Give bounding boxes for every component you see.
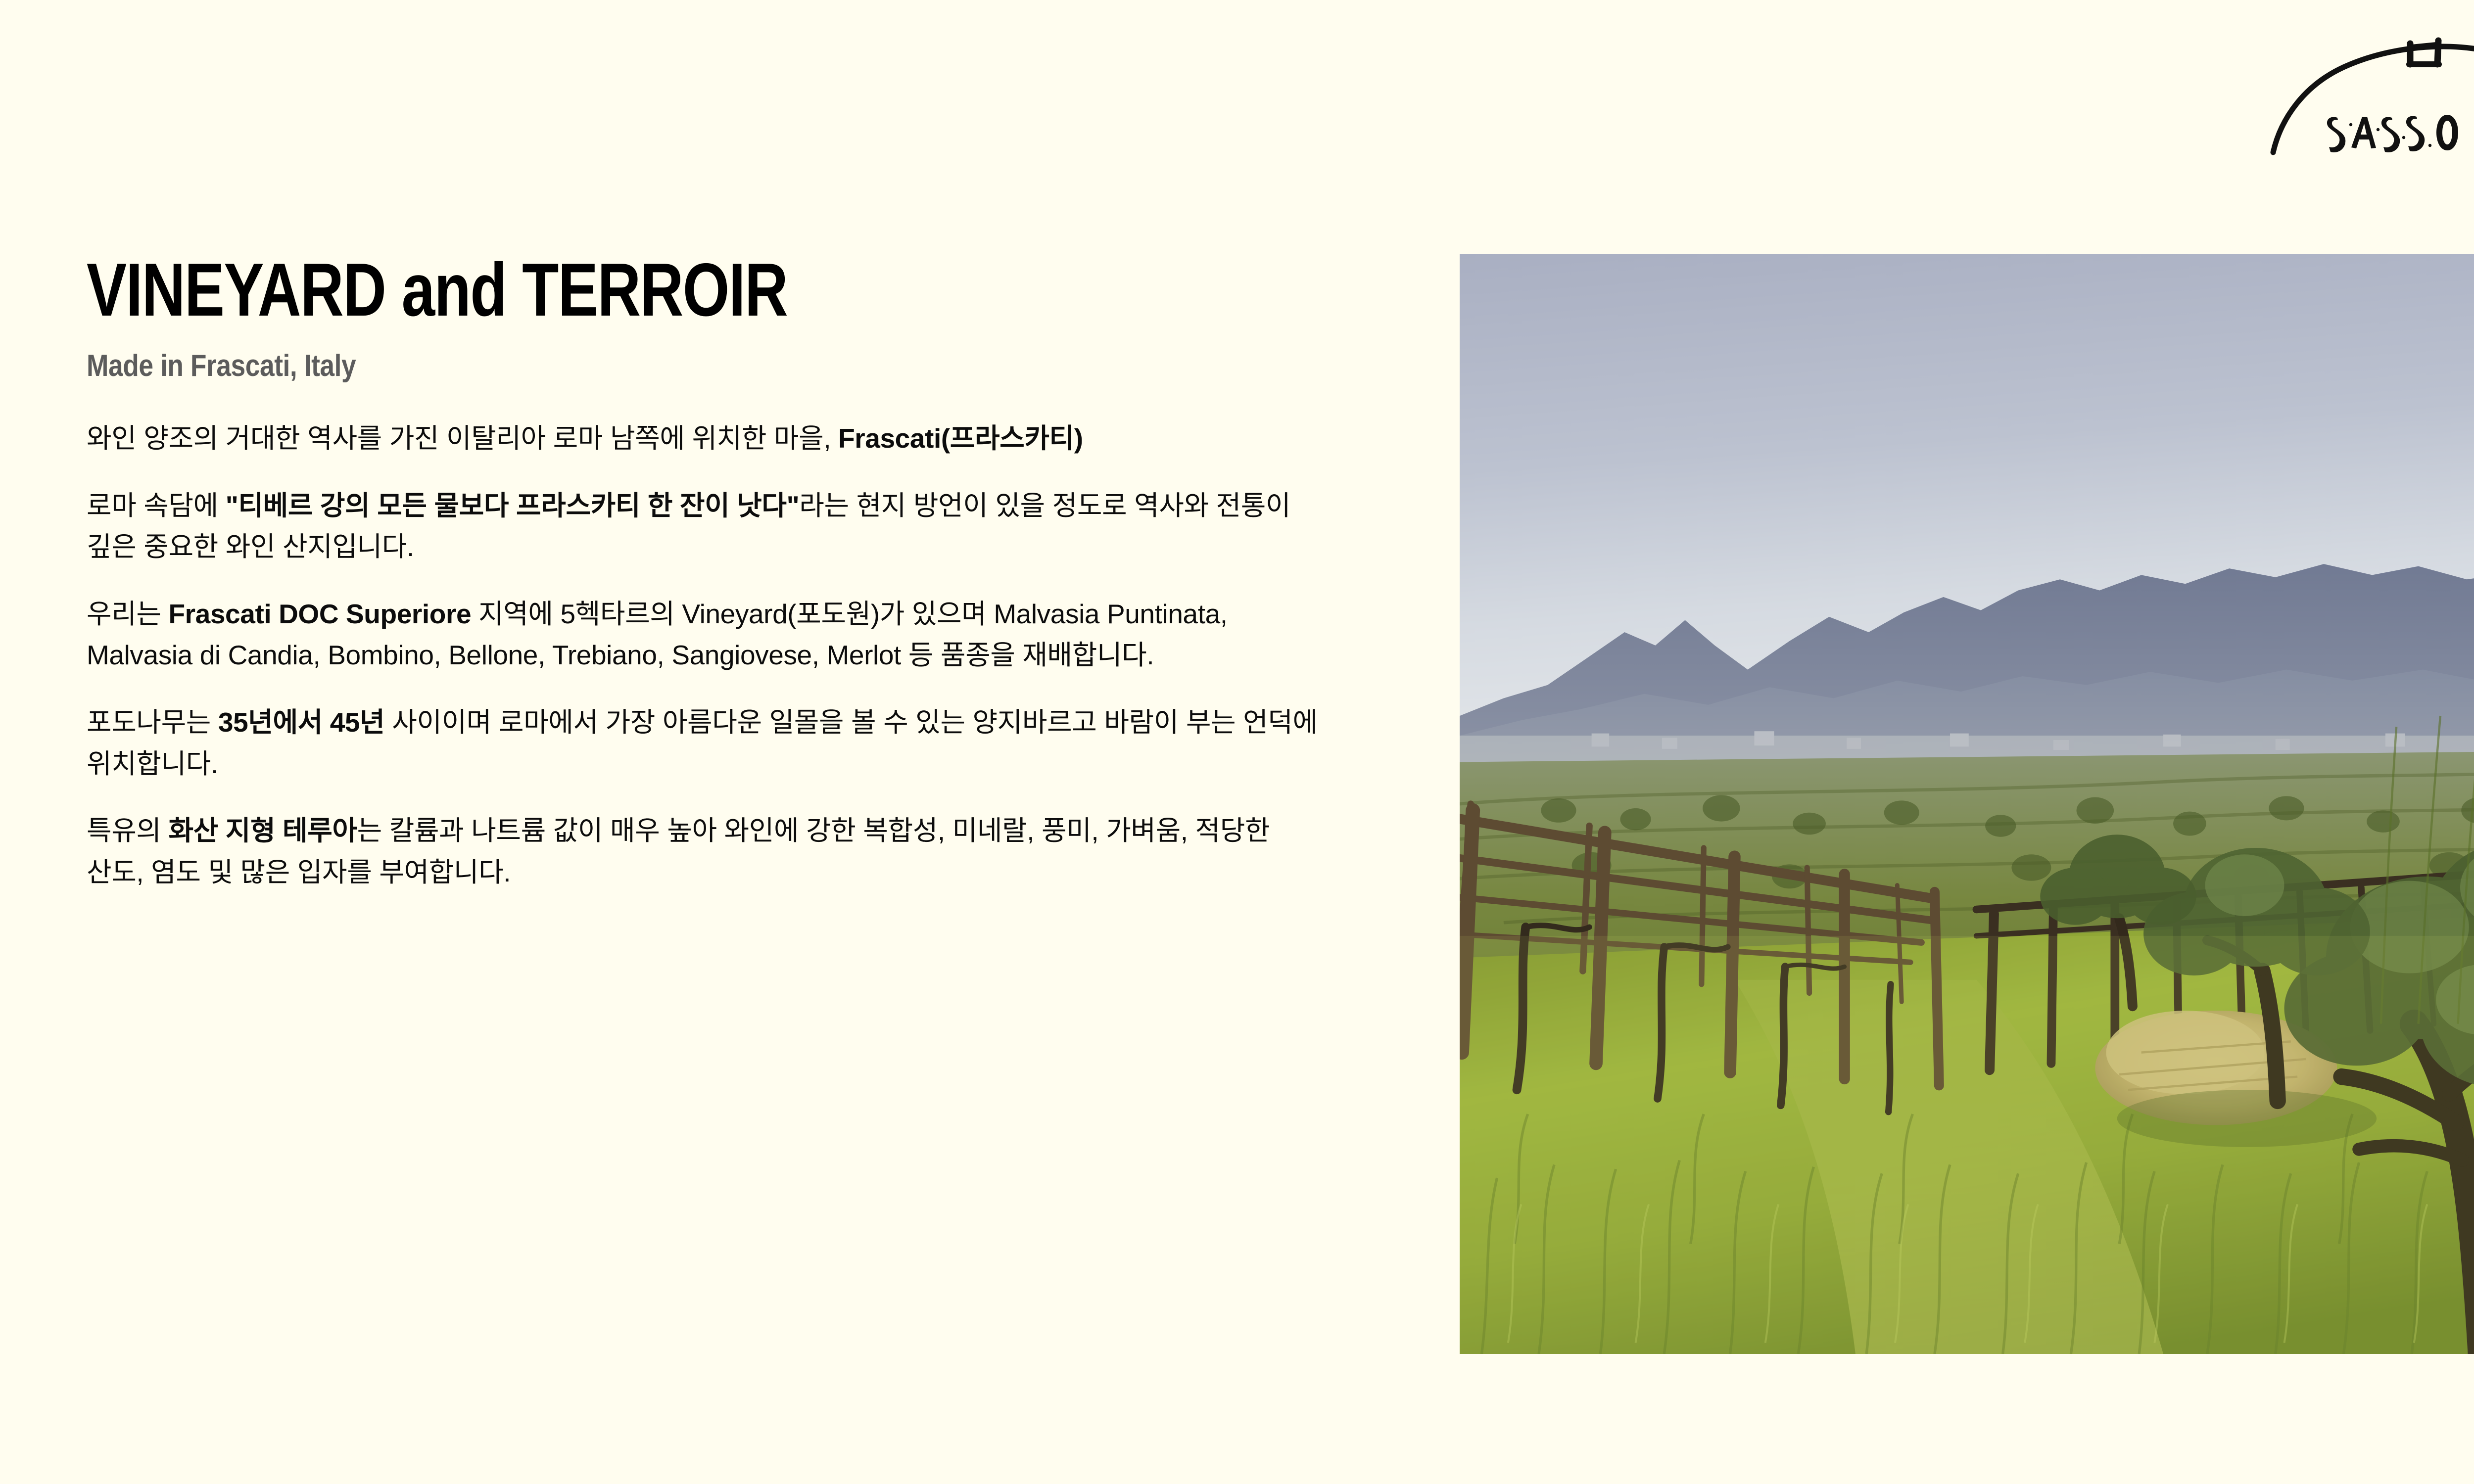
text-run: 특유의 xyxy=(87,815,168,846)
paragraph-proverb: 로마 속담에 "티베르 강의 모든 물보다 프라스카티 한 잔이 낫다"라는 현… xyxy=(87,485,1319,568)
vineyard-landscape-photo xyxy=(1460,254,2474,1354)
emphasis-run: 화산 지형 테루아 xyxy=(168,815,357,846)
emphasis-run: Frascati DOC Superiore xyxy=(168,599,471,629)
text-run: 우리는 xyxy=(87,599,168,629)
brand-wordmark xyxy=(2327,115,2474,152)
page-subtitle: Made in Frascati, Italy xyxy=(87,348,1150,383)
emphasis-run: "티베르 강의 모든 물보다 프라스카티 한 잔이 낫다" xyxy=(226,490,800,521)
emphasis-run: 35년에서 45년 xyxy=(218,707,384,738)
paragraph-terroir: 특유의 화산 지형 테루아는 칼륨과 나트륨 값이 매우 높아 와인에 강한 복… xyxy=(87,810,1319,893)
emphasis-run: Frascati(프라스카티) xyxy=(838,423,1083,454)
text-run: 와인 양조의 거대한 역사를 가진 이탈리아 로마 남쪽에 위치한 마을, xyxy=(87,423,838,454)
content-column: VINEYARD and TERROIR Made in Frascati, I… xyxy=(87,252,1324,893)
paragraph-vineyard-size: 우리는 Frascati DOC Superiore 지역에 5헥타르의 Vin… xyxy=(87,594,1319,676)
page-title: VINEYARD and TERROIR xyxy=(87,252,1076,327)
body-copy: 와인 양조의 거대한 역사를 가진 이탈리아 로마 남쪽에 위치한 마을, Fr… xyxy=(87,418,1324,893)
brand-logo[interactable] xyxy=(2259,20,2474,168)
hill-with-house-icon xyxy=(2273,41,2474,152)
paragraph-intro: 와인 양조의 거대한 역사를 가진 이탈리아 로마 남쪽에 위치한 마을, Fr… xyxy=(87,418,1319,460)
text-run: 로마 속담에 xyxy=(87,490,226,521)
text-run: 포도나무는 xyxy=(87,707,218,738)
paragraph-vine-age: 포도나무는 35년에서 45년 사이이며 로마에서 가장 아름다운 일몰을 볼 … xyxy=(87,702,1319,785)
